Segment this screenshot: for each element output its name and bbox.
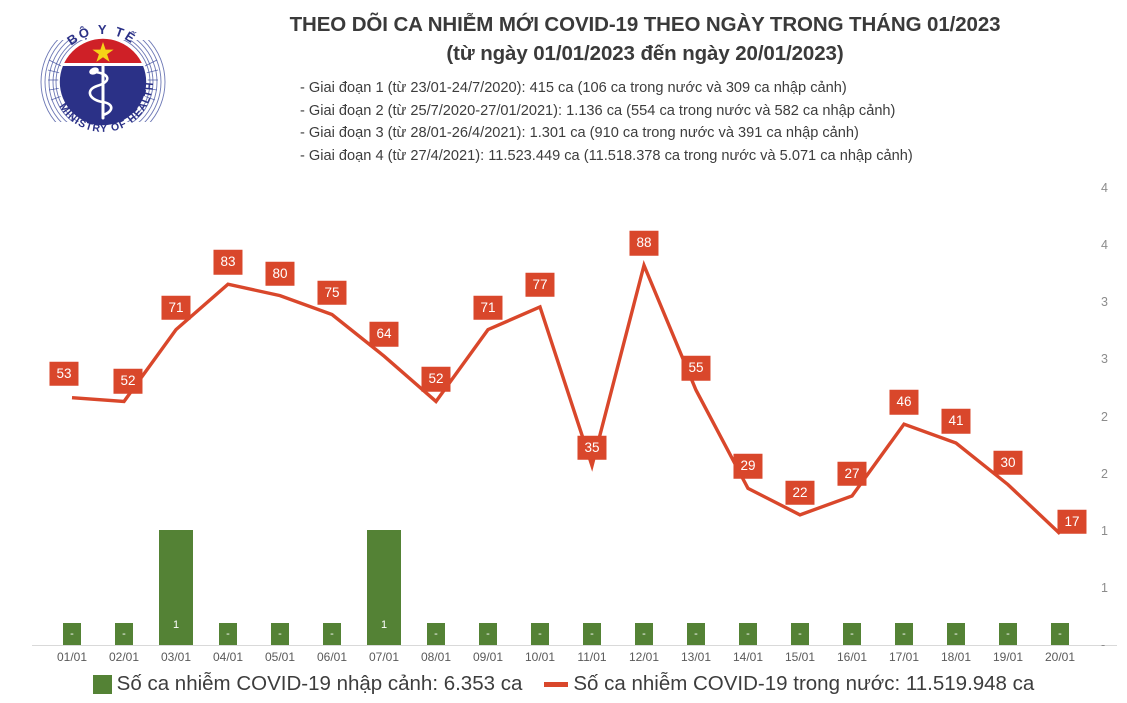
- legend-item-domestic[interactable]: Số ca nhiễm COVID-19 trong nước: 11.519.…: [544, 672, 1034, 696]
- line-point-label: 71: [161, 295, 190, 320]
- y-axis-tick-label: -: [1101, 638, 1127, 652]
- bar-value-label: -: [434, 628, 438, 640]
- y-axis-tick-label: 4: [1101, 238, 1127, 252]
- subtitle-list: - Giai đoạn 1 (từ 23/01-24/7/2020): 415 …: [180, 77, 1110, 167]
- bar-value-label: -: [1006, 628, 1010, 640]
- line-point-label: 27: [837, 462, 866, 487]
- line-point-label: 80: [265, 261, 294, 286]
- line-point-label: 35: [577, 435, 606, 460]
- x-axis-tick-label: 11/01: [577, 650, 606, 664]
- x-axis-tick-label: 02/01: [109, 650, 139, 664]
- ministry-of-health-logo-icon: BỘ Y TẾ MINISTRY OF HEALTH: [33, 10, 173, 150]
- legend-swatch-line-icon: [544, 682, 568, 687]
- bar-value-label: -: [278, 628, 282, 640]
- bar-value-label: -: [902, 628, 906, 640]
- line-point-label: 41: [941, 409, 970, 434]
- bar-value-label: -: [746, 628, 750, 640]
- legend-swatch-bar-icon: [93, 675, 112, 694]
- x-axis-tick-label: 01/01: [57, 650, 87, 664]
- x-axis-tick-label: 20/01: [1045, 650, 1075, 664]
- chart-legend: Số ca nhiễm COVID-19 nhập cảnh: 6.353 ca…: [0, 668, 1127, 703]
- y-axis-tick-label: 1: [1101, 524, 1127, 538]
- bar-value-label: -: [122, 628, 126, 640]
- x-axis-tick-label: 09/01: [473, 650, 503, 664]
- line-point-label: 55: [681, 356, 710, 381]
- bar-value-label: -: [538, 628, 542, 640]
- line-point-label: 64: [369, 322, 398, 347]
- subtitle-phase-1: - Giai đoạn 1 (từ 23/01-24/7/2020): 415 …: [300, 77, 1110, 100]
- subtitle-phase-4: - Giai đoạn 4 (từ 27/4/2021): 11.523.449…: [300, 145, 1110, 168]
- legend-label-domestic: Số ca nhiễm COVID-19 trong nước: 11.519.…: [573, 672, 1034, 696]
- bar-value-label: -: [850, 628, 854, 640]
- chart-title-line-1: THEO DÕI CA NHIỄM MỚI COVID-19 THEO NGÀY…: [180, 10, 1110, 39]
- subtitle-phase-2: - Giai đoạn 2 (từ 25/7/2020-27/01/2021):…: [300, 100, 1110, 123]
- legend-item-imported[interactable]: Số ca nhiễm COVID-19 nhập cảnh: 6.353 ca: [93, 672, 523, 696]
- bar-value-label: -: [694, 628, 698, 640]
- x-axis-tick-label: 16/01: [837, 650, 867, 664]
- y-axis-tick-label: 3: [1101, 295, 1127, 309]
- y-axis-tick-label: 2: [1101, 410, 1127, 424]
- line-point-label: 46: [889, 390, 918, 415]
- line-point-label: 53: [49, 361, 78, 386]
- bar-value-label: -: [798, 628, 802, 640]
- line-point-label: 88: [629, 231, 658, 256]
- line-point-label: 22: [785, 481, 814, 506]
- bar-value-label: -: [330, 628, 334, 640]
- legend-label-imported: Số ca nhiễm COVID-19 nhập cảnh: 6.353 ca: [117, 672, 523, 696]
- line-point-label: 52: [421, 367, 450, 392]
- x-axis-tick-label: 04/01: [213, 650, 243, 664]
- bar-value-label: -: [642, 628, 646, 640]
- y-axis-tick-label: 2: [1101, 467, 1127, 481]
- x-axis-tick-label: 10/01: [525, 650, 555, 664]
- x-axis-tick-label: 18/01: [941, 650, 971, 664]
- line-point-label: 52: [113, 369, 142, 394]
- covid-cases-chart: --1---1------------- 5352718380756452717…: [0, 178, 1127, 668]
- chart-title-line-2: (từ ngày 01/01/2023 đến ngày 20/01/2023): [180, 39, 1110, 68]
- x-axis-tick-label: 15/01: [785, 650, 815, 664]
- bar-value-label: -: [70, 628, 74, 640]
- subtitle-phase-3: - Giai đoạn 3 (từ 28/01-26/4/2021): 1.30…: [300, 122, 1110, 145]
- bar-value-label: -: [954, 628, 958, 640]
- line-point-label: 75: [317, 280, 346, 305]
- line-point-label: 30: [993, 450, 1022, 475]
- y-axis-tick-label: 4: [1101, 181, 1127, 195]
- y-axis-tick-label: 1: [1101, 581, 1127, 595]
- bar-value-label: -: [1058, 628, 1062, 640]
- x-axis-tick-label: 07/01: [369, 650, 399, 664]
- line-point-label: 71: [473, 295, 502, 320]
- y-axis-tick-label: 3: [1101, 352, 1127, 366]
- x-axis-tick-label: 14/01: [733, 650, 763, 664]
- x-axis-tick-label: 06/01: [317, 650, 347, 664]
- x-axis-tick-label: 08/01: [421, 650, 451, 664]
- bar-value-label: 1: [381, 619, 387, 631]
- line-point-label: 17: [1057, 509, 1086, 534]
- bar-value-label: -: [590, 628, 594, 640]
- bar-value-label: 1: [173, 619, 179, 631]
- x-axis-tick-label: 03/01: [161, 650, 191, 664]
- x-axis-tick-label: 12/01: [629, 650, 659, 664]
- bar-value-label: -: [486, 628, 490, 640]
- x-axis-tick-label: 17/01: [889, 650, 919, 664]
- x-axis-line: [32, 645, 1117, 646]
- plot-area: --1---1------------- 5352718380756452717…: [0, 178, 1127, 668]
- line-point-label: 83: [213, 250, 242, 275]
- x-axis-tick-label: 13/01: [681, 650, 711, 664]
- chart-header: BỘ Y TẾ MINISTRY OF HEALTH THEO DÕI CA N…: [0, 0, 1127, 178]
- line-point-label: 77: [525, 273, 554, 298]
- line-point-label: 29: [733, 454, 762, 479]
- x-axis-tick-label: 05/01: [265, 650, 295, 664]
- x-axis-tick-label: 19/01: [993, 650, 1023, 664]
- title-block: THEO DÕI CA NHIỄM MỚI COVID-19 THEO NGÀY…: [180, 10, 1110, 167]
- bar-value-label: -: [226, 628, 230, 640]
